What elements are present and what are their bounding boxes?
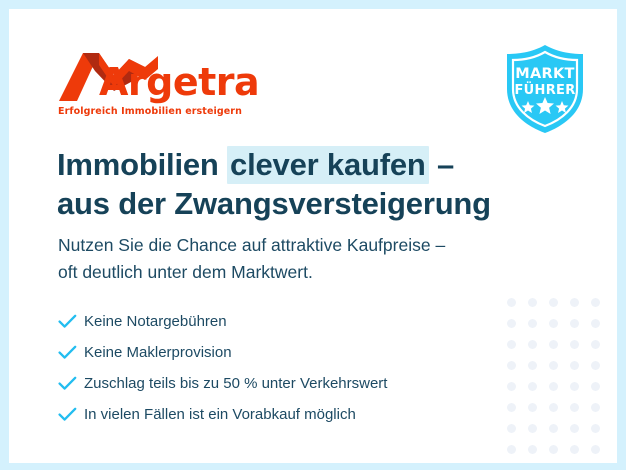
logo-tagline: Erfolgreich Immobilien ersteigern <box>58 106 242 117</box>
decorative-dot <box>549 382 558 391</box>
decorative-dot <box>549 319 558 328</box>
decorative-dot <box>549 340 558 349</box>
decorative-dot <box>570 319 579 328</box>
check-icon <box>58 407 84 422</box>
benefit-item: In vielen Fällen ist ein Vorabkauf mögli… <box>58 399 538 430</box>
promo-card: Argetra Erfolgreich Immobilien ersteiger… <box>9 9 617 463</box>
decorative-dot <box>549 298 558 307</box>
market-leader-badge: MARKT FÜHRER <box>498 42 592 136</box>
headline-line1-post: – <box>429 147 454 182</box>
decorative-dot <box>591 319 600 328</box>
headline-highlight: clever kaufen <box>227 146 429 184</box>
decorative-dot <box>549 424 558 433</box>
decorative-dot <box>570 298 579 307</box>
decorative-dot <box>591 403 600 412</box>
decorative-dot <box>528 445 537 454</box>
benefit-label: In vielen Fällen ist ein Vorabkauf mögli… <box>84 407 356 422</box>
benefit-item: Keine Notargebühren <box>58 306 538 337</box>
logo-wordmark: Argetra <box>99 63 259 101</box>
decorative-dot <box>591 445 600 454</box>
badge-line-2: FÜHRER <box>498 83 592 98</box>
decorative-dot <box>570 424 579 433</box>
decorative-dot <box>570 445 579 454</box>
check-icon <box>58 345 84 360</box>
benefit-item: Keine Maklerprovision <box>58 337 538 368</box>
check-icon <box>58 376 84 391</box>
headline-line1-pre: Immobilien <box>57 147 227 182</box>
subheadline-line1: Nutzen Sie die Chance auf attraktive Kau… <box>58 235 445 255</box>
decorative-dot <box>591 382 600 391</box>
benefit-label: Keine Maklerprovision <box>84 345 232 360</box>
decorative-dot <box>591 424 600 433</box>
decorative-dot <box>549 361 558 370</box>
check-icon <box>58 314 84 329</box>
decorative-dot <box>507 445 516 454</box>
decorative-dot <box>591 340 600 349</box>
decorative-dot <box>549 445 558 454</box>
badge-stars-icon <box>498 97 592 117</box>
decorative-dot <box>570 340 579 349</box>
decorative-dot <box>591 298 600 307</box>
benefits-list: Keine NotargebührenKeine Maklerprovision… <box>58 306 538 430</box>
headline: Immobilien clever kaufen – aus der Zwang… <box>57 145 577 223</box>
decorative-dot <box>570 382 579 391</box>
promo-banner: Argetra Erfolgreich Immobilien ersteiger… <box>0 0 626 470</box>
argetra-logo[interactable]: Argetra Erfolgreich Immobilien ersteiger… <box>57 49 257 121</box>
decorative-dot <box>570 403 579 412</box>
subheadline-line2: oft deutlich unter dem Marktwert. <box>58 259 578 286</box>
subheadline: Nutzen Sie die Chance auf attraktive Kau… <box>58 232 578 286</box>
benefit-label: Zuschlag teils bis zu 50 % unter Verkehr… <box>84 376 387 391</box>
badge-line-1: MARKT <box>498 66 592 82</box>
decorative-dot <box>549 403 558 412</box>
benefit-item: Zuschlag teils bis zu 50 % unter Verkehr… <box>58 368 538 399</box>
benefit-label: Keine Notargebühren <box>84 314 227 329</box>
headline-line2: aus der Zwangsversteigerung <box>57 184 577 223</box>
decorative-dot <box>570 361 579 370</box>
decorative-dot <box>591 361 600 370</box>
